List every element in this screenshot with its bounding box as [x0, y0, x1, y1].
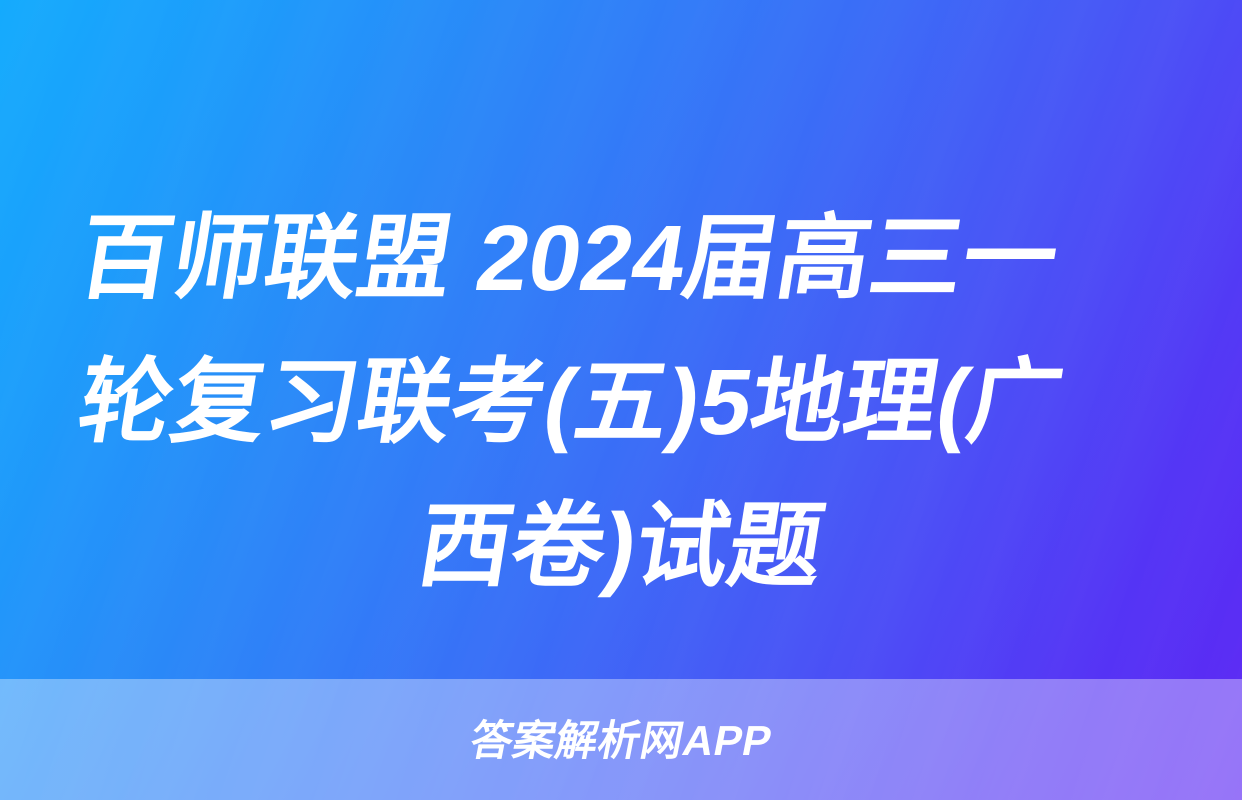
watermark-app-label: 答案解析网APP	[467, 720, 776, 762]
title-line-3: 西卷)试题	[63, 474, 1180, 618]
title-line-2: 轮复习联考(五)5地理(广	[63, 330, 1180, 474]
watermark-band: 答案解析网APP	[0, 679, 1242, 800]
title-block: 百师联盟 2024届高三一 轮复习联考(五)5地理(广 西卷)试题	[0, 186, 1242, 618]
poster-canvas: 百师联盟 2024届高三一 轮复习联考(五)5地理(广 西卷)试题 答案解析网A…	[0, 0, 1242, 800]
title-line-1: 百师联盟 2024届高三一	[63, 186, 1180, 330]
